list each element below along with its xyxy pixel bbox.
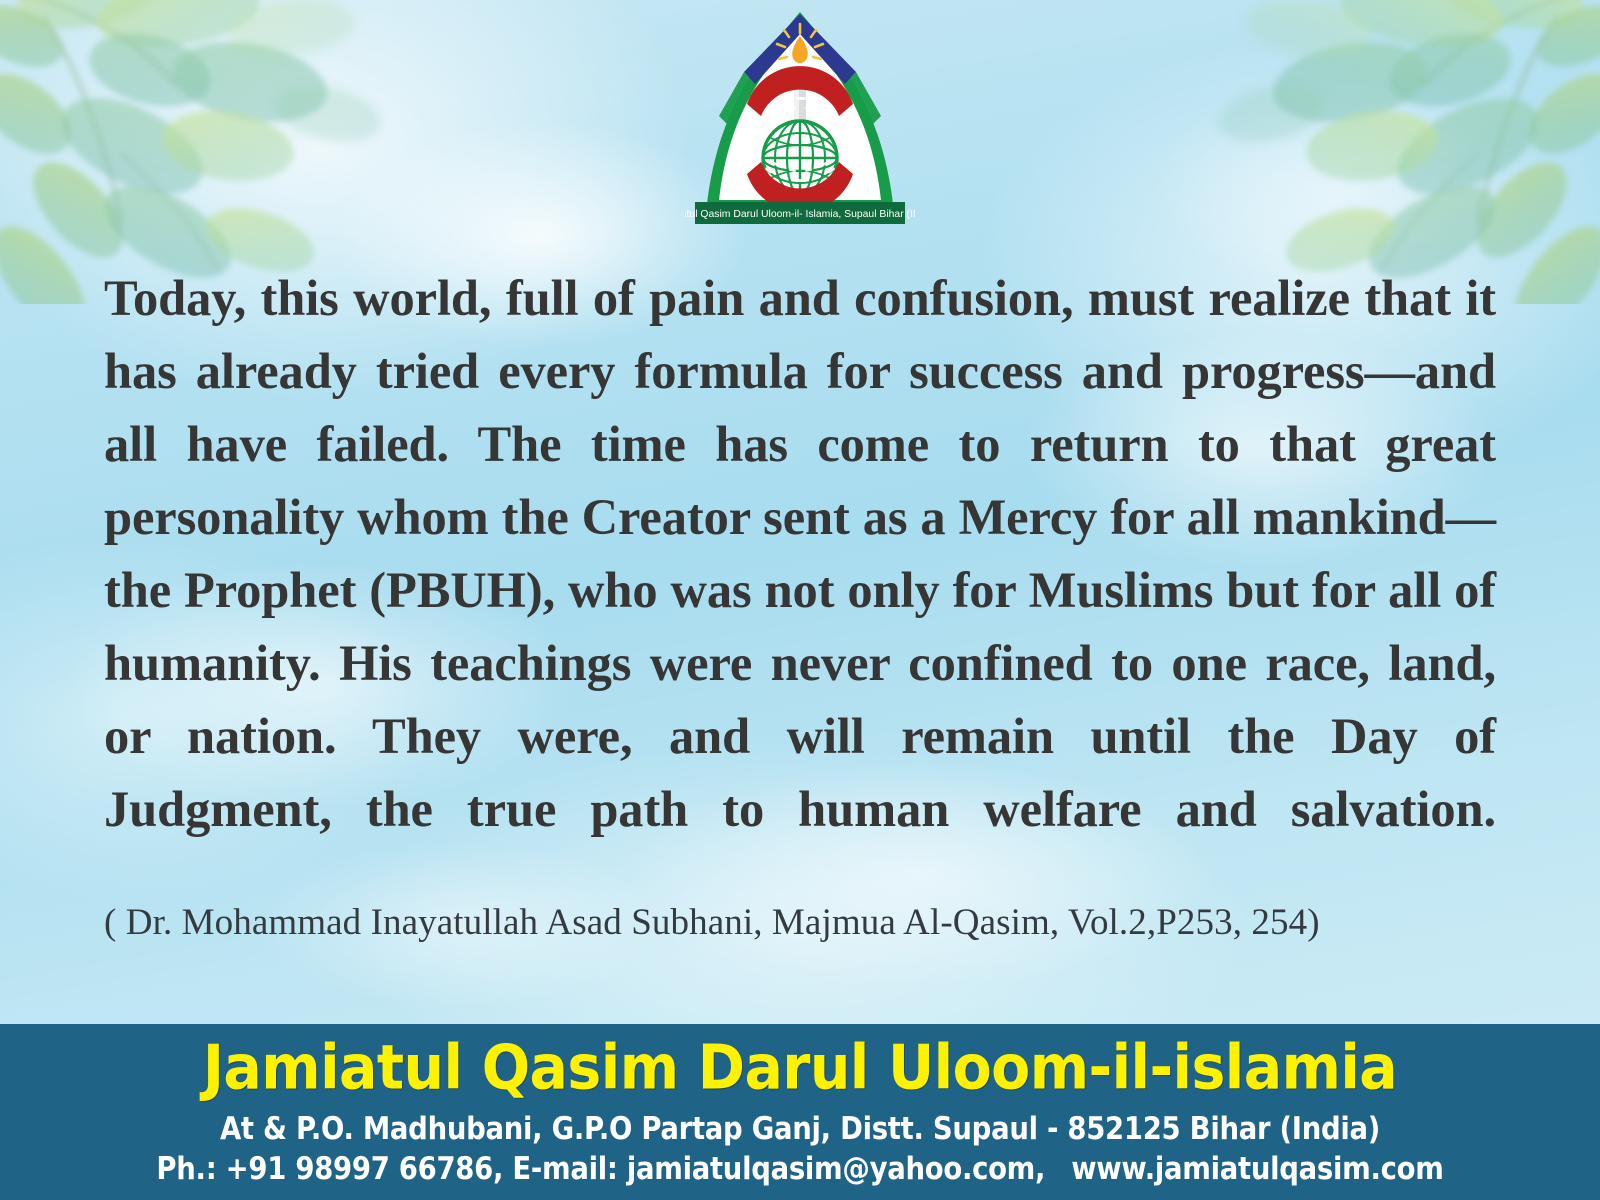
logo-caption: Jamiatul Qasim Darul Uloom-il- Islamia, … bbox=[685, 209, 915, 220]
leaf-branch-right-icon bbox=[1198, 0, 1600, 304]
phone-and-email-text: Ph.: +91 98997 66786, E-mail: jamiatulqa… bbox=[156, 1151, 1045, 1187]
footer-banner: Jamiatul Qasim Darul Uloom-il-islamia At… bbox=[0, 1024, 1600, 1200]
poster-canvas: Jamiatul Qasim Darul Uloom-il- Islamia, … bbox=[0, 0, 1600, 1200]
institution-address: At & P.O. Madhubani, G.P.O Partap Ganj, … bbox=[0, 1109, 1600, 1149]
quote-text: Today, this world, full of pain and conf… bbox=[104, 262, 1496, 919]
institution-name: Jamiatul Qasim Darul Uloom-il-islamia bbox=[0, 1033, 1600, 1102]
institution-logo: Jamiatul Qasim Darul Uloom-il- Islamia, … bbox=[685, 6, 915, 228]
institution-contact: Ph.: +91 98997 66786, E-mail: jamiatulqa… bbox=[0, 1149, 1600, 1189]
website-link[interactable]: www.jamiatulqasim.com bbox=[1071, 1151, 1443, 1187]
quote-block: Today, this world, full of pain and conf… bbox=[104, 262, 1496, 919]
quote-attribution: ( Dr. Mohammad Inayatullah Asad Subhani,… bbox=[104, 900, 1496, 946]
cloud-wisp-icon bbox=[1150, 80, 1530, 290]
leaf-branch-left-icon bbox=[0, 0, 402, 304]
